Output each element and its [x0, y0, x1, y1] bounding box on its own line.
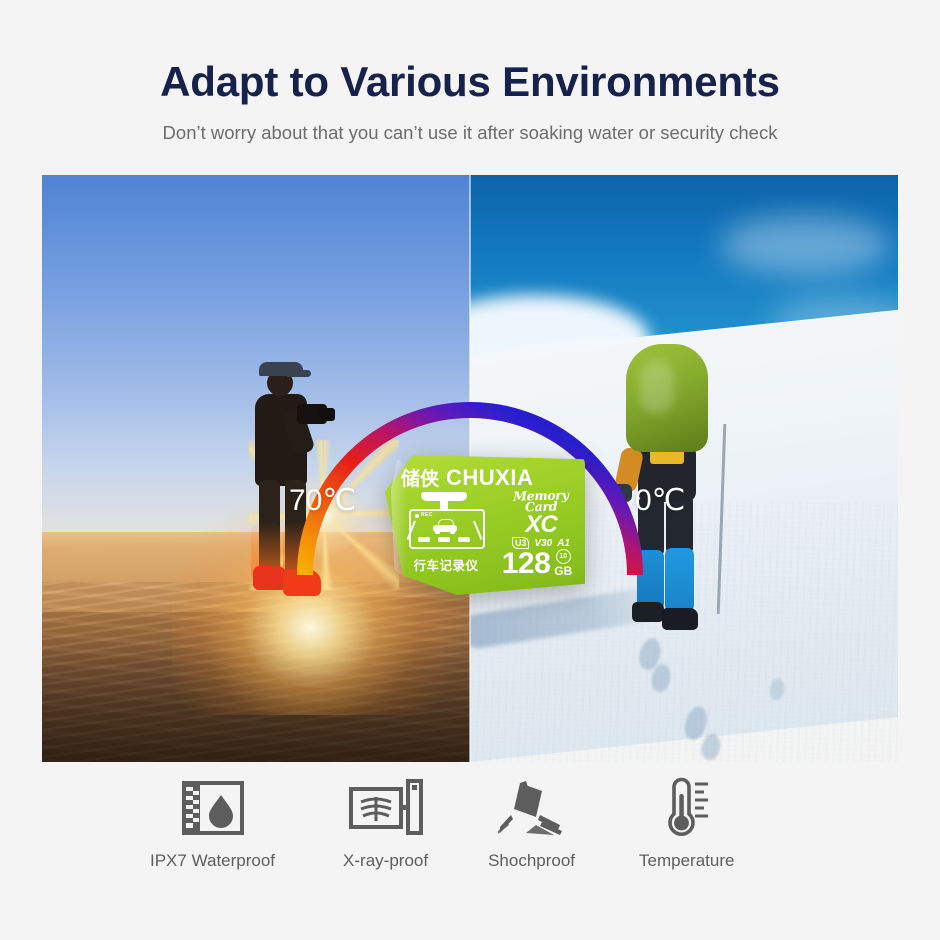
rec-label: REC [421, 512, 433, 518]
feature-label: Temperature [639, 851, 734, 871]
feature-item-shockproof: Shochproof [488, 775, 575, 871]
waterproof-card-icon [180, 775, 246, 841]
cloud [720, 215, 890, 275]
class-10-icon: 10 [556, 549, 571, 564]
sand-shadow [42, 642, 470, 762]
feature-strip: IPX7 Waterproof X-ray-proof [42, 775, 898, 905]
brand-name-en: CHUXIA [446, 465, 533, 491]
car-wheel-shape [435, 531, 440, 534]
dashcam-icon: REC [407, 490, 483, 552]
feature-item-xray-proof: X-ray-proof [343, 775, 428, 871]
feature-label: X-ray-proof [343, 851, 428, 871]
hiker-boot [662, 608, 698, 630]
capacity-row: 128 10 GB [489, 549, 585, 579]
hiker-leg [666, 494, 693, 556]
hiker-figure [598, 344, 728, 644]
environment-photo-panel: 70℃ 0℃ 储侠 CHUXIA REC [42, 175, 898, 762]
dashboard-button-shape [418, 537, 430, 542]
car-wheel-shape [450, 531, 455, 534]
capacity-number: 128 [502, 549, 551, 579]
dashboard-button-shape [458, 537, 470, 542]
shockproof-card-icon [496, 775, 568, 841]
hiker-boot [632, 602, 664, 622]
capacity-right-group: 10 GB [554, 549, 572, 577]
card-type-xc: XC [501, 511, 581, 539]
memory-card-wordmark: Memory Card [499, 490, 584, 513]
xray-scanner-icon [348, 775, 424, 841]
dashcam-label: 行车记录仪 [401, 555, 491, 574]
camera-lens [319, 408, 335, 421]
page-subtitle: Don’t worry about that you can’t use it … [163, 122, 778, 144]
hiker-glove [612, 484, 632, 502]
page-title: Adapt to Various Environments [160, 58, 780, 106]
feature-item-waterproof: IPX7 Waterproof [150, 775, 275, 871]
thermometer-icon [656, 775, 718, 841]
page-header: Adapt to Various Environments Don’t worr… [0, 0, 940, 175]
photographer-silhouette [227, 352, 337, 612]
hiker-leg [638, 496, 664, 558]
photographer-cap-brim [287, 370, 311, 377]
memory-card-product: 储侠 CHUXIA REC 行车记录仪 Memory Card [385, 455, 585, 595]
capacity-unit: GB [554, 565, 572, 577]
brand-name-cn: 储侠 [401, 464, 439, 491]
backpack-highlight [640, 360, 674, 414]
hiker-pants [665, 548, 694, 612]
feature-label: Shochproof [488, 851, 575, 871]
dashboard-button-shape [438, 537, 450, 542]
hiker-pants [637, 550, 664, 610]
feature-label: IPX7 Waterproof [150, 851, 275, 871]
trekking-pole [717, 424, 727, 614]
photographer-boot [253, 566, 287, 590]
speed-class-a1: A1 [557, 538, 570, 549]
photographer-boot [283, 570, 321, 596]
feature-item-temperature: Temperature [639, 775, 734, 871]
car-icon [433, 519, 457, 534]
rec-dot-icon [415, 514, 419, 518]
